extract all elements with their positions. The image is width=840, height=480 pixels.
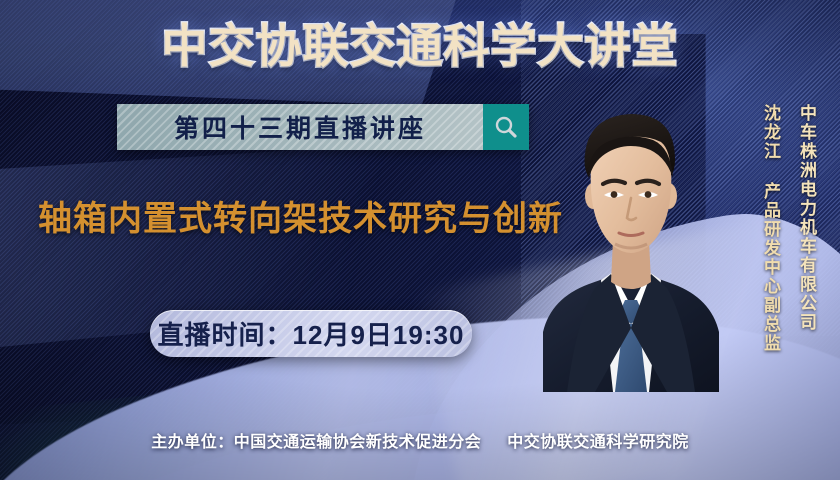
speaker-organization: 中车株洲电力机车有限公司 [795, 104, 818, 332]
broadcast-time-pill: 直播时间：12月9日19:30 [150, 310, 472, 357]
speaker-name-and-role: 沈龙江 产品研发中心副总监 [759, 104, 782, 353]
footer-prefix: 主办单位： [151, 434, 234, 451]
session-badge-body: 第四十三期直播讲座 [117, 104, 483, 150]
session-badge: 第四十三期直播讲座 [117, 104, 529, 150]
promo-banner: 中交协联交通科学大讲堂 第四十三期直播讲座 轴箱内置式转向架技术研究与创新 直播… [0, 0, 840, 480]
session-label: 第四十三期直播讲座 [174, 109, 426, 145]
search-icon [483, 104, 529, 150]
lecture-topic: 轴箱内置式转向架技术研究与创新 [38, 196, 563, 242]
speaker-portrait [533, 92, 729, 392]
footer-host-2: 中交协联交通科学研究院 [507, 434, 689, 451]
footer-hosts: 主办单位：中国交通运输协会新技术促进分会中交协联交通科学研究院 [0, 428, 840, 452]
page-title: 中交协联交通科学大讲堂 [0, 16, 840, 76]
broadcast-time-text: 直播时间：12月9日19:30 [158, 315, 465, 352]
footer-host-1: 中国交通运输协会新技术促进分会 [234, 434, 482, 451]
